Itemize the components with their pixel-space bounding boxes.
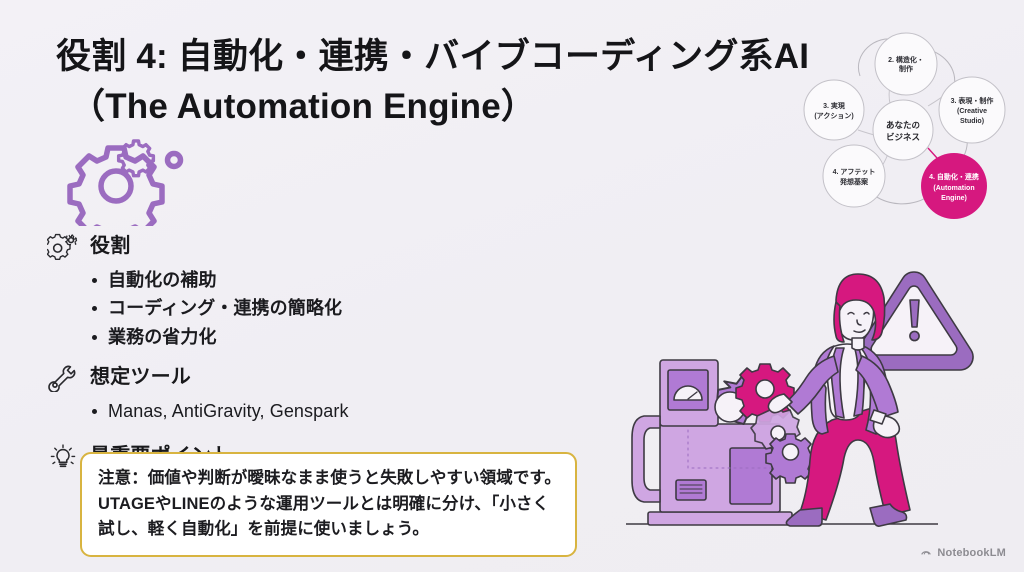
section-tools: 想定ツール Manas, AntiGravity, Genspark <box>46 363 606 425</box>
svg-text:Engine): Engine) <box>941 195 967 202</box>
list-item: 業務の省力化 <box>108 323 606 351</box>
svg-text:4. アフテット: 4. アフテット <box>833 168 876 176</box>
list-item: Manas, AntiGravity, Genspark <box>108 397 606 425</box>
gears-icon <box>52 134 192 226</box>
wrench-icon <box>46 363 80 393</box>
notebooklm-logo-icon <box>920 544 932 562</box>
svg-text:あなたの: あなたの <box>886 120 920 130</box>
bullet-list: Manas, AntiGravity, Genspark <box>46 397 606 425</box>
page-title: 役割 4: 自動化・連携・バイブコーディング系AI （The Automatio… <box>56 32 796 131</box>
svg-text:3. 実現: 3. 実現 <box>823 101 845 110</box>
bullet-list: 自動化の補助 コーディング・連携の簡略化 業務の省力化 <box>46 266 606 351</box>
svg-text:4. 自動化・連携: 4. 自動化・連携 <box>929 172 979 181</box>
lightbulb-icon <box>46 442 80 472</box>
svg-text:発想基案: 発想基案 <box>839 177 869 186</box>
svg-text:(Creative: (Creative <box>957 108 987 115</box>
slide-canvas: 役割 4: 自動化・連携・バイブコーディング系AI （The Automatio… <box>0 0 1024 572</box>
svg-text:Studio): Studio) <box>960 118 984 125</box>
svg-text:3. 表現・制作: 3. 表現・制作 <box>951 96 994 105</box>
callout-text: 注意：価値や判断が曖昧なまま使うと失敗しやすい領域です。UTAGEやLINEのよ… <box>98 466 561 543</box>
status-badge: 注意：価値や判断が曖昧なまま使うと失敗しやすい領域です。UTAGEやLINEのよ… <box>80 452 577 557</box>
title-line-1: 役割 4: 自動化・連携・バイブコーディング系AI <box>56 32 796 82</box>
svg-text:(アクション): (アクション) <box>814 111 853 120</box>
section-role: 役割 自動化の補助 コーディング・連携の簡略化 業務の省力化 <box>46 232 606 351</box>
section-label: 想定ツール <box>90 363 191 391</box>
list-item: 自動化の補助 <box>108 266 606 294</box>
content-sections: 役割 自動化の補助 コーディング・連携の簡略化 業務の省力化 <box>46 232 606 476</box>
diagram: 2. 構造化・ 制作 3. 表現・制作 (Creative Studio) 3.… <box>792 18 1018 230</box>
list-item: コーディング・連携の簡略化 <box>108 294 606 322</box>
section-header: 役割 <box>46 232 606 264</box>
gears-icon <box>46 232 80 262</box>
svg-text:制作: 制作 <box>899 64 913 73</box>
section-header: 想定ツール <box>46 363 606 395</box>
illustration-woman-operating-machine: .ol { stroke:#3e3a43; stroke-width:1.6; … <box>618 252 1018 552</box>
diagram-node-top-line1: 2. 構造化・ <box>888 55 924 64</box>
watermark-label: NotebookLM <box>937 547 1006 559</box>
svg-text:(Automation: (Automation <box>933 185 974 192</box>
title-line-2: （The Automation Engine） <box>56 82 796 132</box>
svg-text:ビジネス: ビジネス <box>886 132 920 142</box>
section-label: 役割 <box>90 232 130 260</box>
watermark: NotebookLM <box>920 544 1006 562</box>
